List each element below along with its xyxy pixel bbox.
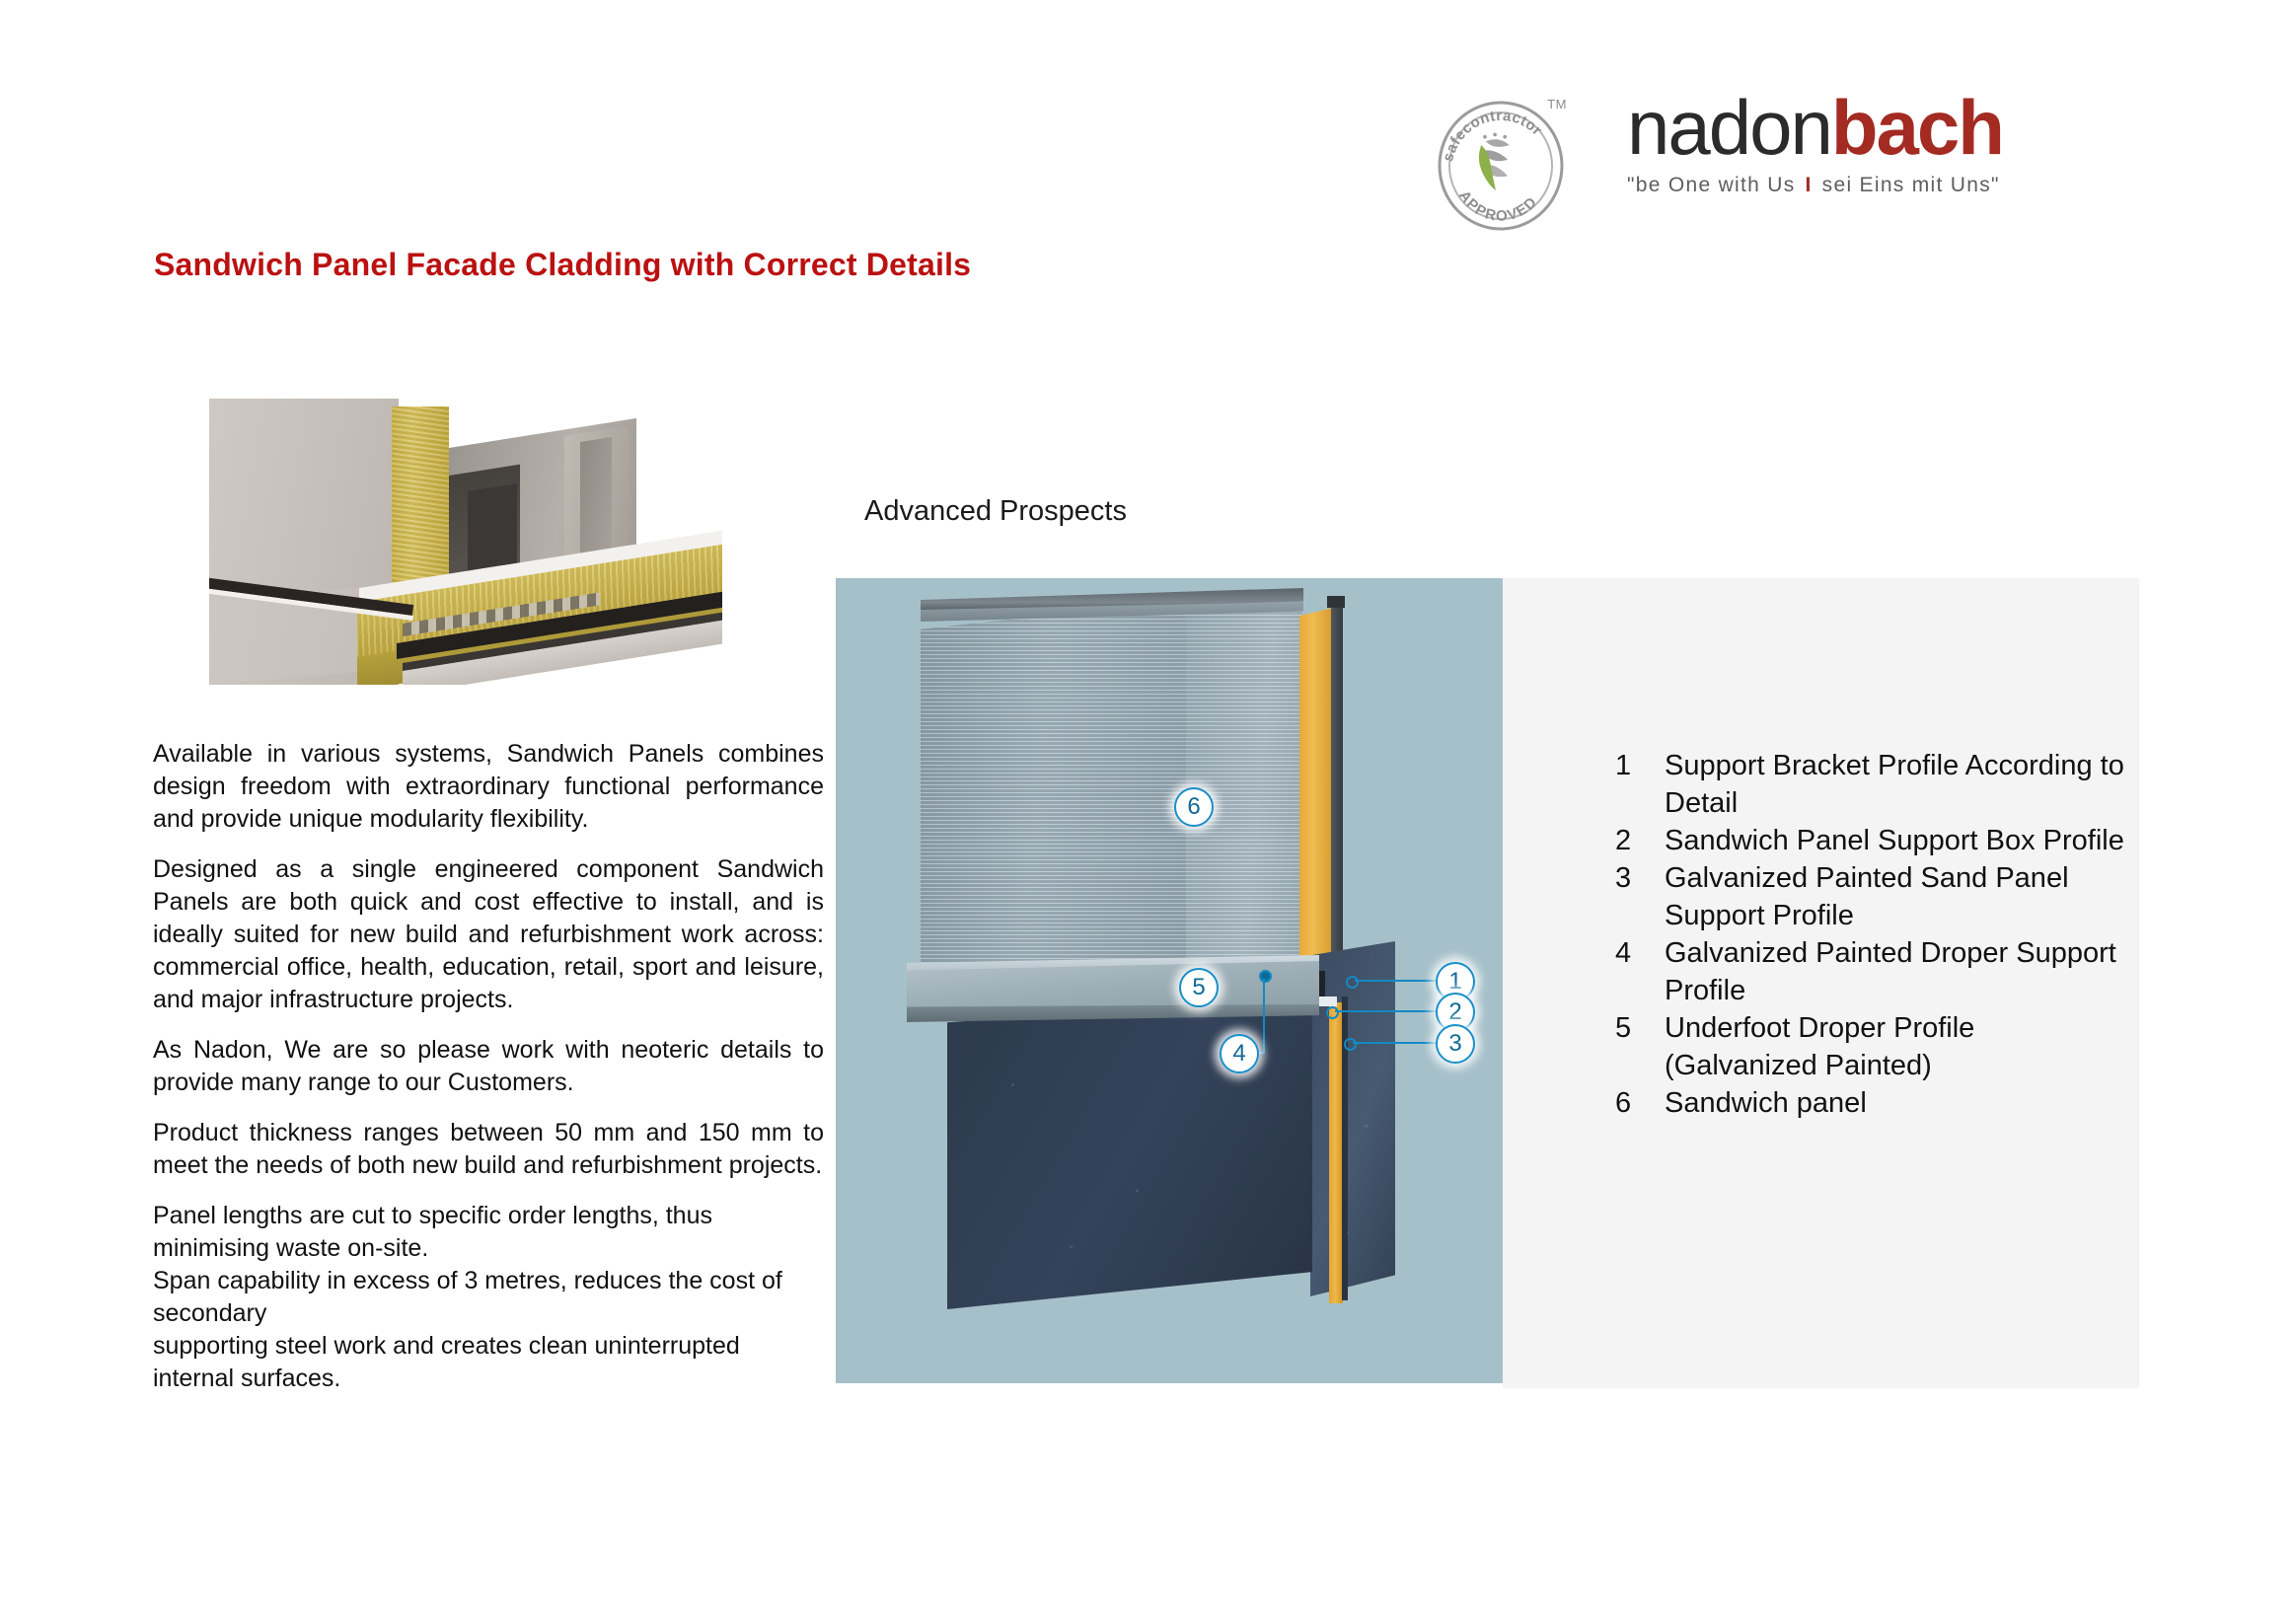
- brand-tagline-separator: I: [1796, 174, 1822, 196]
- leader-line-3: [1353, 1042, 1436, 1044]
- paragraph-4: Product thickness ranges between 50 mm a…: [153, 1117, 824, 1182]
- leader-line-1: [1355, 980, 1436, 982]
- legend-item-1-number: 1: [1615, 747, 1665, 784]
- paragraph-1: Available in various systems, Sandwich P…: [153, 738, 824, 836]
- legend-item-6-label: Sandwich panel: [1665, 1084, 1867, 1122]
- legend-list: 1 Support Bracket Profile According to D…: [1615, 747, 2128, 1122]
- brand-name-part2: bach: [1831, 84, 2003, 171]
- legend-item-6: 6 Sandwich panel: [1615, 1084, 2128, 1122]
- leader-dot-3: [1344, 1038, 1357, 1051]
- legend-item-3: 3 Galvanized Painted Sand Panel Support …: [1615, 859, 2128, 934]
- brand-header: safecontractor APPROVED TM nadonbach "be…: [1436, 87, 2156, 245]
- paragraph-6: Span capability in excess of 3 metres, r…: [153, 1265, 824, 1330]
- legend-item-2: 2 Sandwich Panel Support Box Profile: [1615, 822, 2128, 859]
- callout-bubble-6[interactable]: 6: [1174, 787, 1214, 827]
- safecontractor-approved-seal-icon: safecontractor APPROVED TM: [1436, 95, 1569, 233]
- legend-item-2-number: 2: [1615, 822, 1665, 859]
- leader-dot-4: [1259, 970, 1272, 983]
- legend-item-3-number: 3: [1615, 859, 1665, 897]
- legend-item-2-label: Sandwich Panel Support Box Profile: [1665, 822, 2124, 859]
- brand-tagline-right: sei Eins mit Uns": [1822, 174, 2000, 196]
- brand-tagline: "be One with UsIsei Eins mit Uns": [1627, 174, 2160, 197]
- legend-item-3-label: Galvanized Painted Sand Panel Support Pr…: [1665, 859, 2128, 934]
- callout-bubble-4[interactable]: 4: [1220, 1034, 1259, 1073]
- legend-item-1: 1 Support Bracket Profile According to D…: [1615, 747, 2128, 822]
- illus-sandwich-panel-face: [921, 600, 1187, 991]
- brand-lockup: nadonbach "be One with UsIsei Eins mit U…: [1627, 87, 2160, 197]
- illus-core-edge-top: [1327, 596, 1345, 608]
- legend-item-5-label: Underfoot Droper Profile (Galvanized Pai…: [1665, 1009, 2128, 1084]
- legend-item-5: 5 Underfoot Droper Profile (Galvanized P…: [1615, 1009, 2128, 1084]
- photo-support-bracket-slot: [580, 437, 612, 564]
- paragraph-7: supporting steel work and creates clean …: [153, 1330, 824, 1395]
- legend-item-5-number: 5: [1615, 1009, 1665, 1047]
- page-title: Sandwich Panel Facade Cladding with Corr…: [154, 247, 971, 283]
- brand-name: nadonbach: [1627, 87, 2160, 168]
- section-label-advanced-prospects: Advanced Prospects: [864, 495, 1127, 528]
- legend-item-4-number: 4: [1615, 934, 1665, 972]
- illus-concrete-slab-front-face: [947, 997, 1312, 1309]
- legend-item-4-label: Galvanized Painted Droper Support Profil…: [1665, 934, 2128, 1009]
- callout-bubble-3[interactable]: 3: [1436, 1024, 1475, 1064]
- leader-dot-1: [1346, 976, 1359, 989]
- leader-dot-2: [1326, 1006, 1339, 1019]
- sandwich-panel-detail-photo: [209, 399, 722, 685]
- illus-slab-insulation-strip: [1329, 1002, 1343, 1303]
- paragraph-2: Designed as a single engineered componen…: [153, 853, 824, 1016]
- photo-steel-shadow-inner: [468, 483, 517, 574]
- body-copy: Available in various systems, Sandwich P…: [153, 738, 824, 1413]
- leader-line-4-vertical: [1263, 979, 1265, 1054]
- leader-line-2: [1335, 1010, 1436, 1012]
- brand-tagline-left: "be One with Us: [1627, 174, 1796, 196]
- paragraph-5: Panel lengths are cut to specific order …: [153, 1200, 824, 1265]
- callout-bubble-5[interactable]: 5: [1179, 968, 1219, 1007]
- legend-item-4: 4 Galvanized Painted Droper Support Prof…: [1615, 934, 2128, 1009]
- paragraph-3: As Nadon, We are so please work with neo…: [153, 1034, 824, 1099]
- legend-item-6-number: 6: [1615, 1084, 1665, 1122]
- legend-item-1-label: Support Bracket Profile According to Det…: [1665, 747, 2128, 822]
- sandwich-panel-3d-illustration: 1 2 3 4 5 6: [836, 578, 1503, 1383]
- brand-name-part1: nadon: [1627, 84, 1831, 171]
- trademark-symbol: TM: [1547, 97, 1567, 111]
